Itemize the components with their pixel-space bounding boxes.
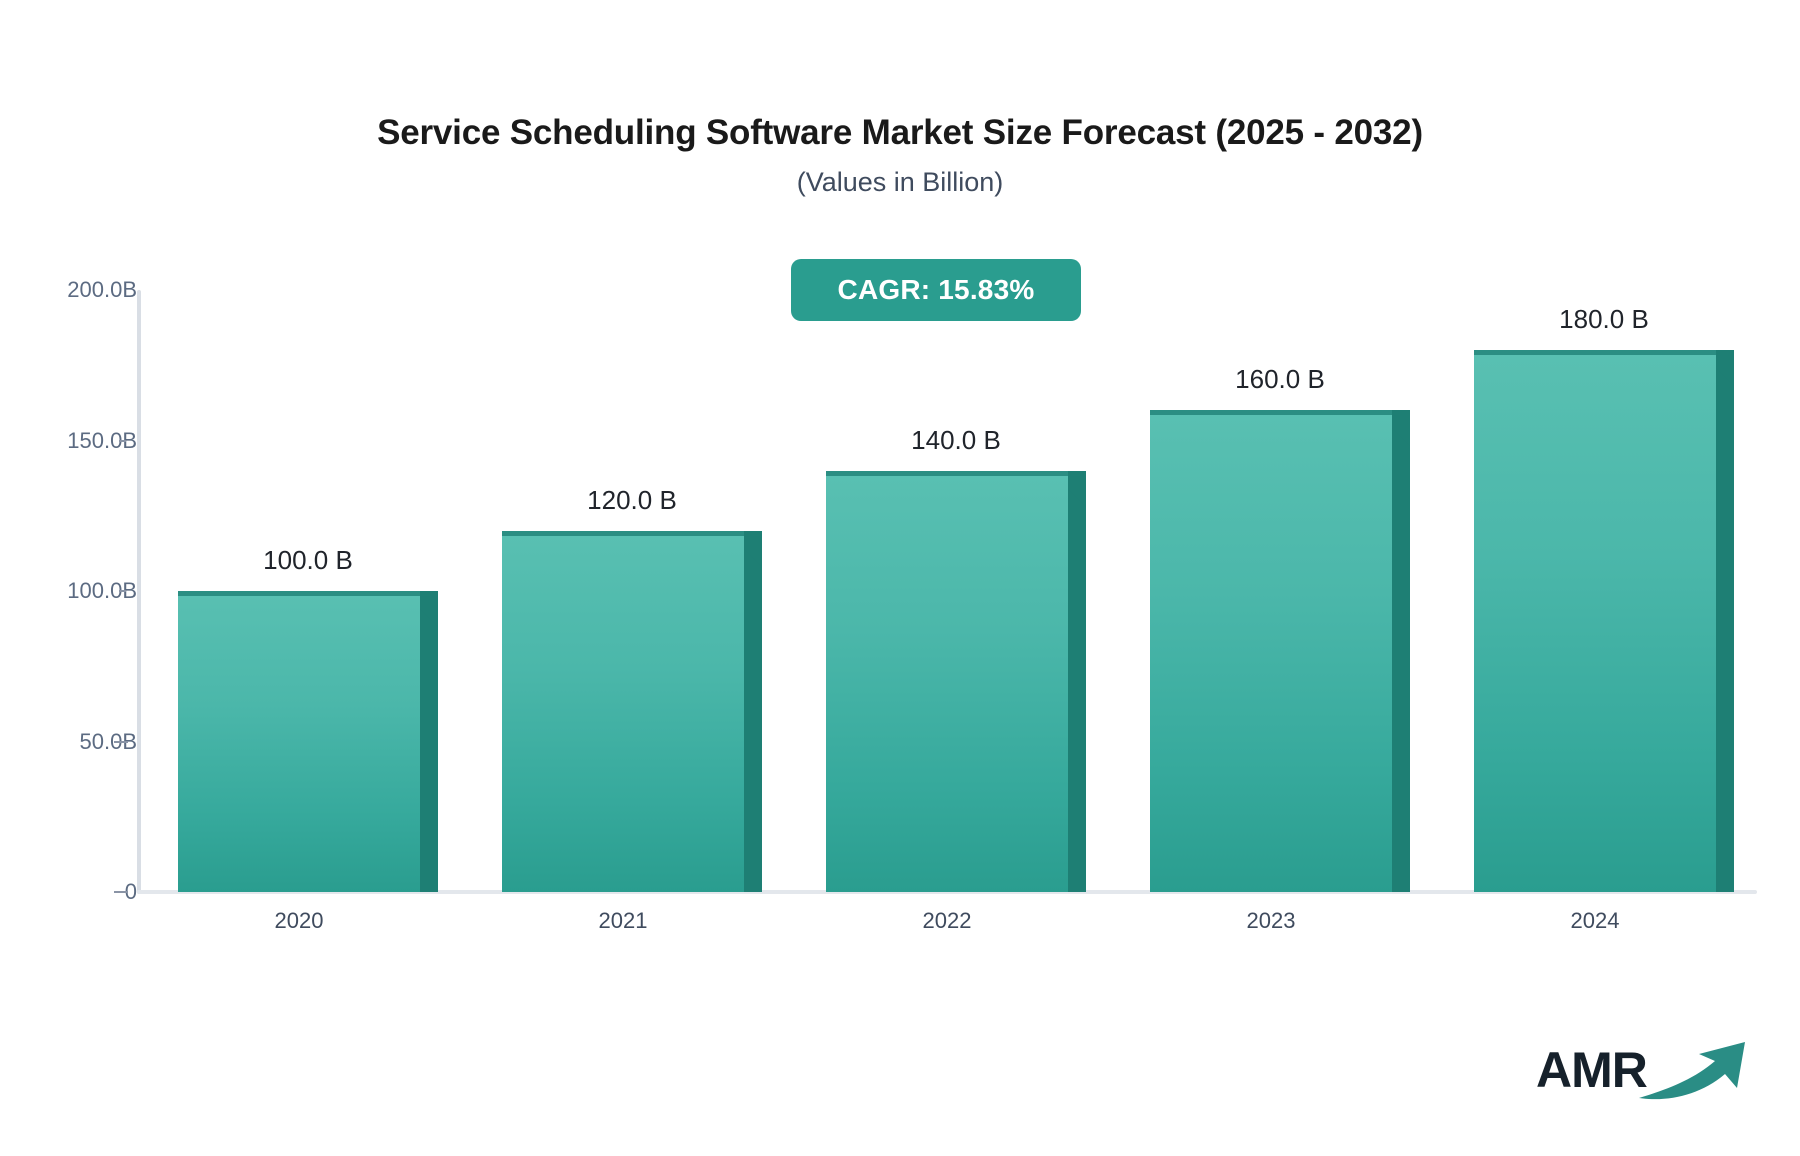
y-tick-mark — [114, 891, 128, 893]
bar — [1474, 350, 1716, 892]
bar-3d-body — [1474, 350, 1716, 892]
x-tick-label: 2020 — [169, 908, 429, 934]
bar-value-label: 160.0 B — [1150, 364, 1410, 395]
bar-front-face — [1150, 410, 1392, 892]
bar-3d-body — [826, 471, 1068, 892]
bar-top-edge — [178, 591, 420, 596]
bar-value-label: 140.0 B — [826, 425, 1086, 456]
y-tick-mark — [119, 440, 126, 442]
bar-front-face — [826, 471, 1068, 892]
bar-side-face — [1068, 489, 1086, 892]
bar-value-label: 100.0 B — [178, 545, 438, 576]
bar-3d-body — [502, 531, 744, 892]
bar-side-face — [744, 549, 762, 892]
bar-side-face — [1392, 428, 1410, 892]
chart-canvas: Service Scheduling Software Market Size … — [0, 0, 1800, 1156]
bar — [1150, 410, 1392, 892]
x-tick-label: 2022 — [817, 908, 1077, 934]
bar — [502, 531, 744, 892]
bar-side-face — [1716, 368, 1734, 892]
y-tick-mark — [114, 741, 128, 743]
bar-top-edge — [502, 531, 744, 536]
bar-front-face — [178, 591, 420, 892]
bar-top-edge — [1150, 410, 1392, 415]
bar-top-edge — [826, 471, 1068, 476]
amr-logo: AMR — [1536, 1040, 1757, 1100]
bar — [826, 471, 1068, 892]
bar-3d-body — [1150, 410, 1392, 892]
bars-container — [137, 290, 1757, 892]
growth-arrow-icon — [1637, 1036, 1757, 1111]
x-tick-label: 2023 — [1141, 908, 1401, 934]
bar-side-face — [420, 609, 438, 892]
bar — [178, 591, 420, 892]
bar-value-label: 120.0 B — [502, 485, 762, 516]
x-tick-label: 2024 — [1465, 908, 1725, 934]
bar-front-face — [502, 531, 744, 892]
bar-3d-body — [178, 591, 420, 892]
plot-area: 050.0B100.0B150.0B200.0B 202020212022202… — [0, 0, 1800, 1156]
bar-value-label: 180.0 B — [1474, 304, 1734, 335]
y-tick-label: 200.0B — [17, 277, 137, 303]
y-tick-mark — [119, 590, 126, 592]
bar-top-edge — [1474, 350, 1716, 355]
x-tick-label: 2021 — [493, 908, 753, 934]
bar-front-face — [1474, 350, 1716, 892]
logo-text: AMR — [1536, 1045, 1647, 1095]
